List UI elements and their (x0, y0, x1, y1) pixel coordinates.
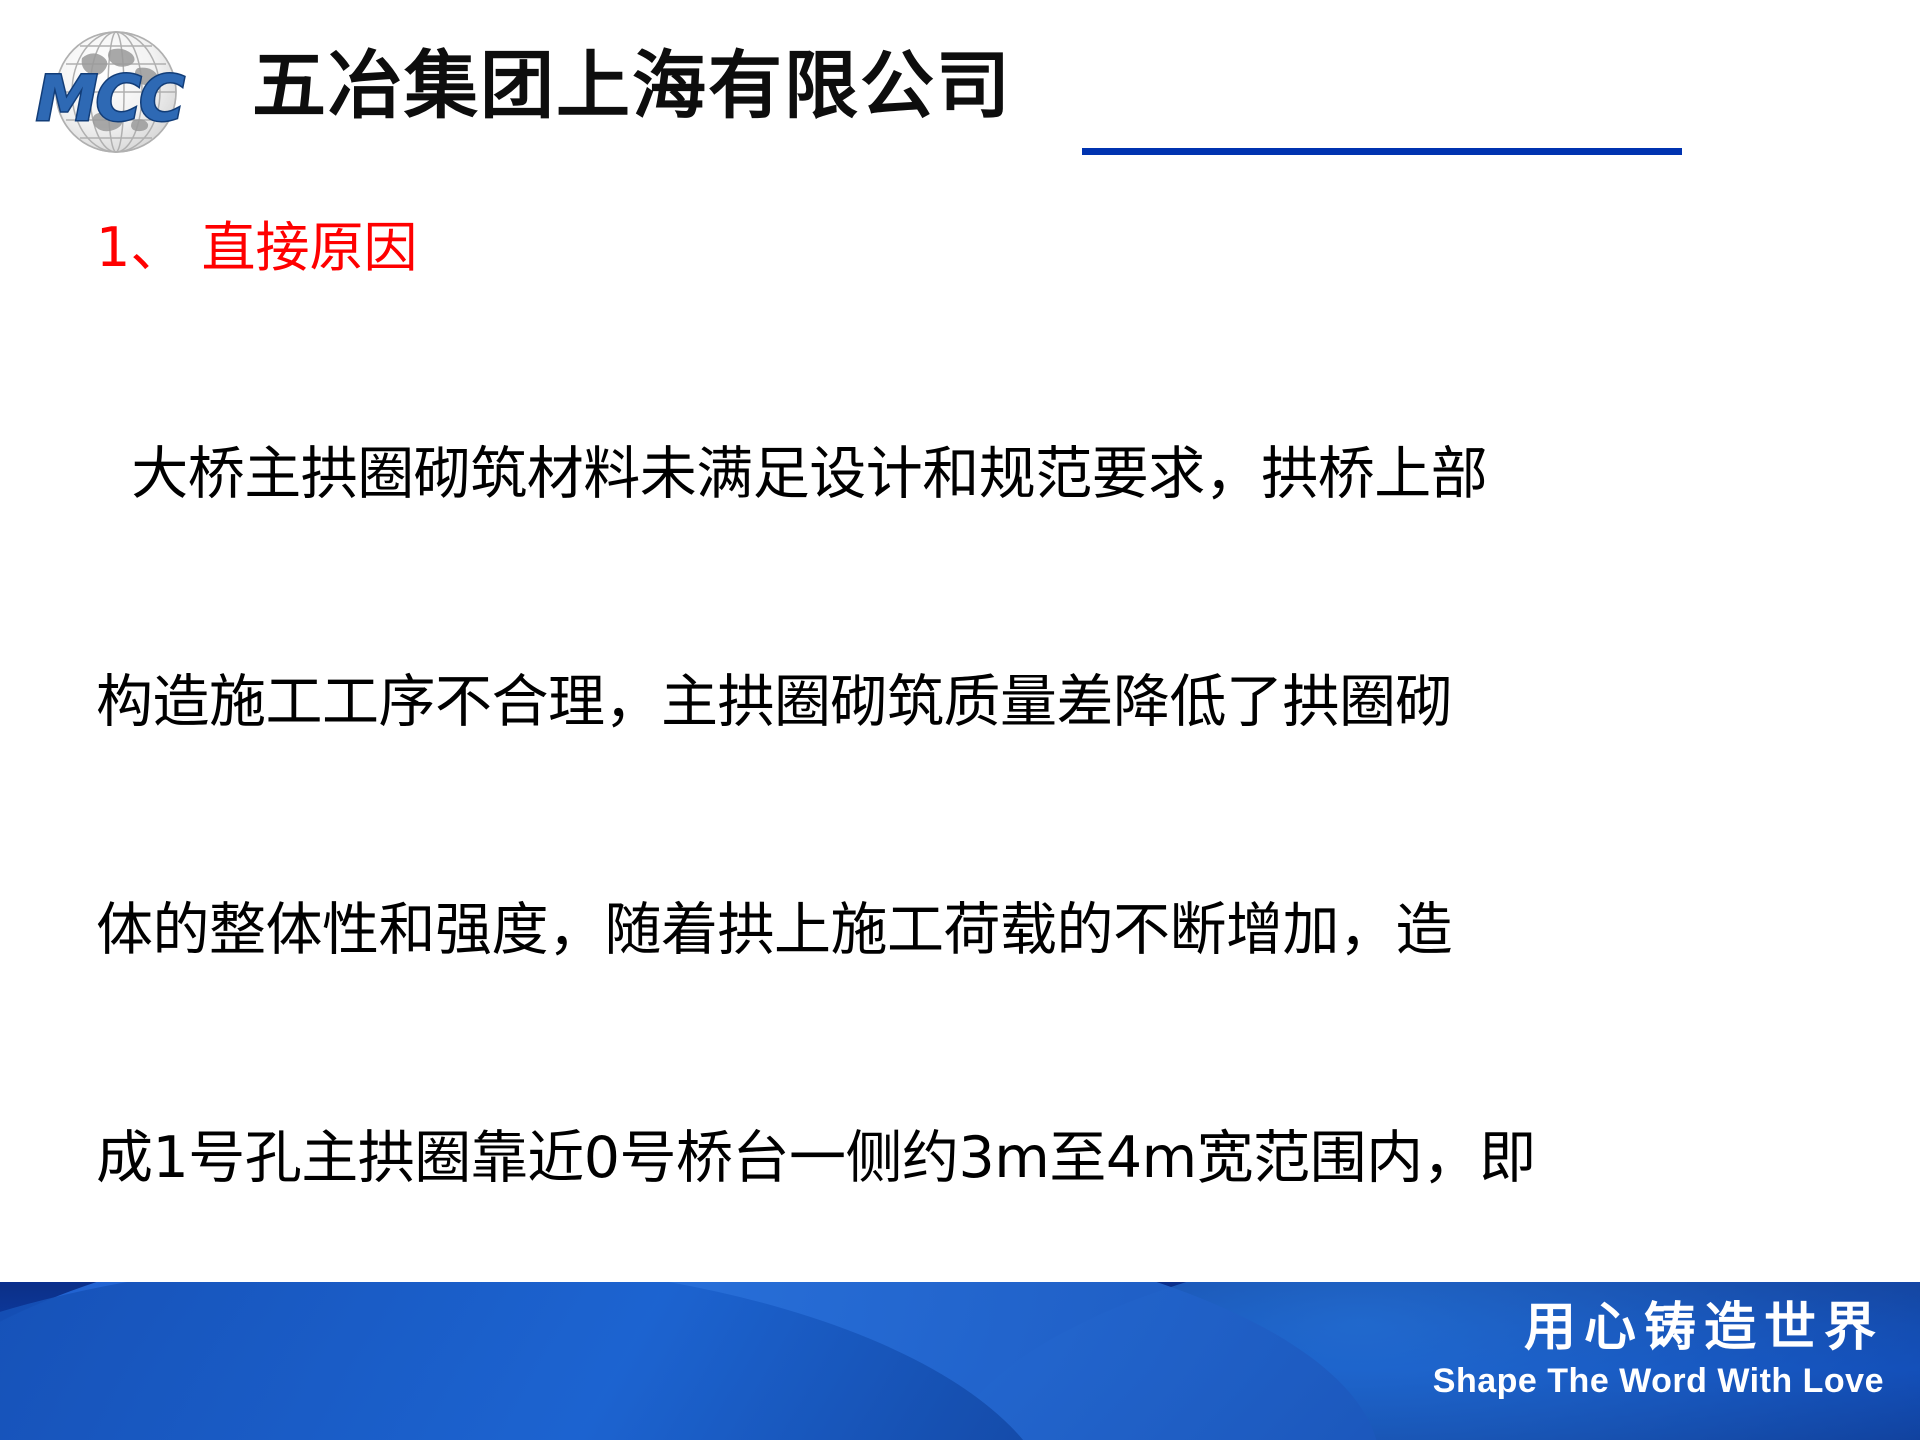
header-divider (1082, 148, 1682, 155)
mcc-logo: MCC (28, 22, 228, 162)
slogan-chinese: 用心铸造世界 (1264, 1298, 1884, 1358)
mcc-wordmark: MCC (36, 66, 246, 132)
slide-root: MCC 五冶集团上海有限公司 1、 直接原因 大桥主拱圈砌筑材料未满足设计和规范… (0, 0, 1920, 1440)
footer-slogan: 用心铸造世界 Shape The Word With Love (1264, 1298, 1884, 1402)
slide-footer: 用心铸造世界 Shape The Word With Love (0, 1282, 1920, 1440)
paragraph-line: 大桥主拱圈砌筑材料未满足设计和规范要求，拱桥上部 (96, 436, 1836, 512)
paragraph-line: 成1号孔主拱圈靠近0号桥台一侧约3m至4m宽范围内，即 (96, 1120, 1836, 1196)
slogan-english: Shape The Word With Love (1264, 1360, 1884, 1402)
slide-header: MCC 五冶集团上海有限公司 (0, 0, 1920, 182)
section-1-paragraph: 大桥主拱圈砌筑材料未满足设计和规范要求，拱桥上部 构造施工工序不合理，主拱圈砌筑… (96, 284, 1836, 1440)
section-1-heading: 1、 直接原因 (96, 212, 1836, 284)
slide-body: 1、 直接原因 大桥主拱圈砌筑材料未满足设计和规范要求，拱桥上部 构造施工工序不… (96, 212, 1836, 1440)
paragraph-line: 构造施工工序不合理，主拱圈砌筑质量差降低了拱圈砌 (96, 664, 1836, 740)
paragraph-line: 体的整体性和强度，随着拱上施工荷载的不断增加，造 (96, 892, 1836, 968)
company-name: 五冶集团上海有限公司 (252, 44, 1012, 128)
